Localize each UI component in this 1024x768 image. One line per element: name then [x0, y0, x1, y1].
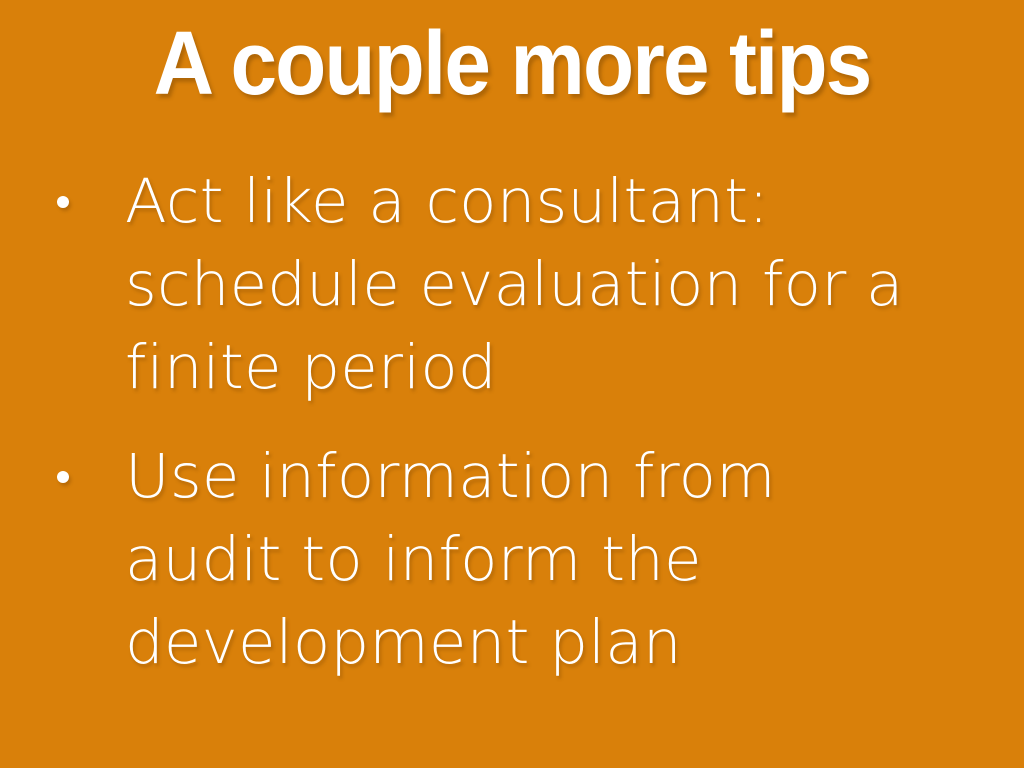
bullet-dot-icon — [57, 471, 69, 483]
presentation-slide: A couple more tips Act like a consultant… — [0, 0, 1024, 768]
bullet-list: Act like a consultant: schedule evaluati… — [0, 160, 1024, 710]
list-item-text: Act like a consultant: schedule evaluati… — [125, 160, 925, 409]
bullet-dot-icon — [57, 196, 69, 208]
list-item-text: Use information from audit to inform the… — [125, 435, 925, 684]
page-title: A couple more tips — [36, 14, 988, 114]
list-item: Use information from audit to inform the… — [0, 435, 1024, 684]
list-item: Act like a consultant: schedule evaluati… — [0, 160, 1024, 409]
